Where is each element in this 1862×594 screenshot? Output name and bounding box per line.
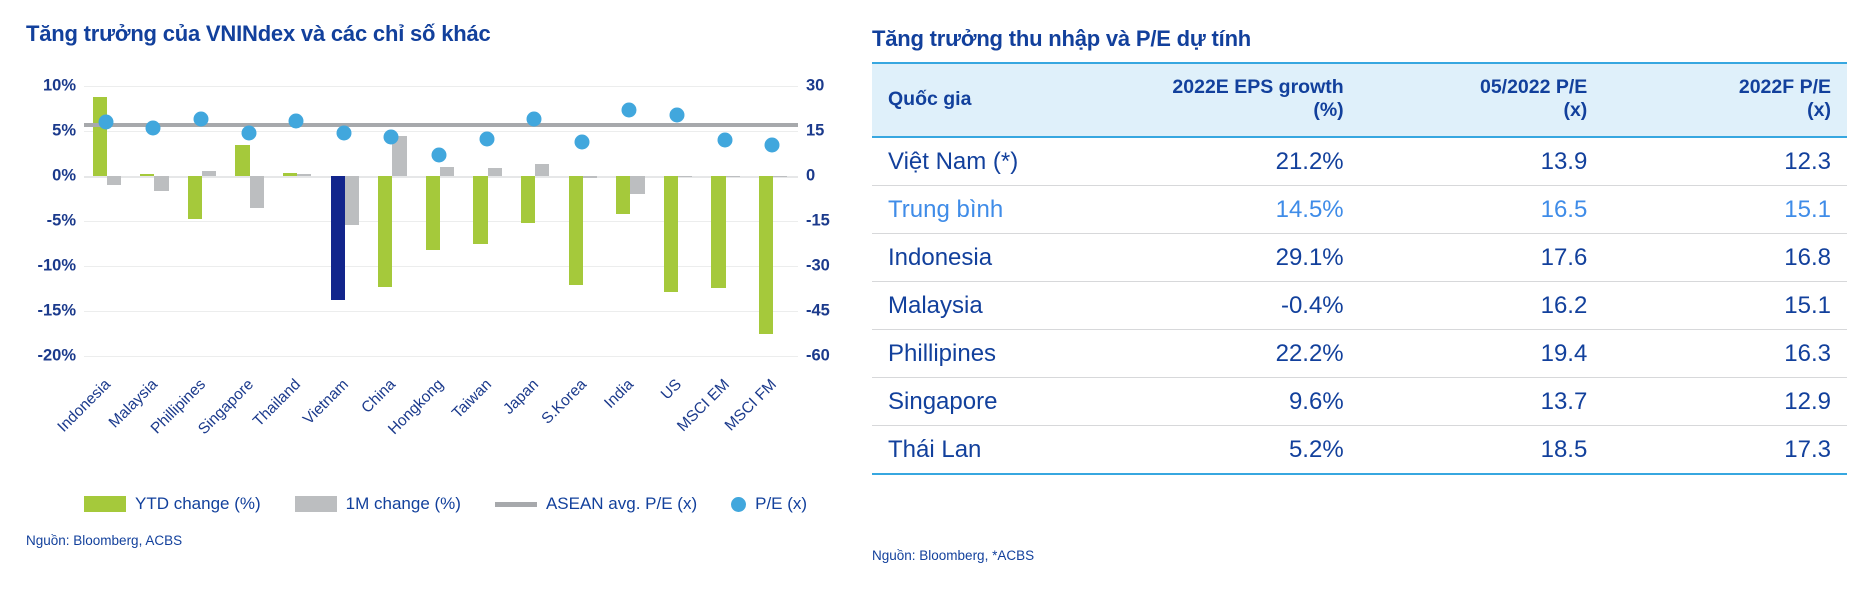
gridline	[84, 266, 798, 267]
bar-ytd-change	[759, 176, 773, 334]
bar-1m-change	[154, 176, 168, 191]
y-axis-right-tick: -60	[806, 347, 850, 366]
col-header-eps-growth-line1: 2022E EPS growth	[1172, 76, 1343, 98]
cell-pe-2022f: 15.1	[1603, 282, 1847, 330]
pe-data-point	[432, 148, 447, 163]
cell-pe-2022f: 12.3	[1603, 137, 1847, 186]
bar-1m-change	[773, 176, 787, 177]
gridline	[84, 356, 798, 357]
cell-pe-2022f: 16.8	[1603, 234, 1847, 282]
asean-average-pe-line	[84, 123, 798, 127]
cell-country: Indonesia	[872, 234, 1116, 282]
pe-data-point	[146, 121, 161, 136]
pe-data-point	[194, 112, 209, 127]
x-axis-label: S.Korea	[538, 376, 590, 428]
growth-chart-panel: Tăng trưởng của VNINdex và các chỉ số kh…	[0, 0, 850, 594]
col-header-eps-growth: 2022E EPS growth (%)	[1116, 63, 1360, 137]
pe-data-point	[527, 112, 542, 127]
col-header-pe-2022f-line1: 2022F P/E	[1739, 76, 1831, 98]
bar-1m-change	[345, 176, 359, 225]
col-header-pe-may-2022: 05/2022 P/E (x)	[1360, 63, 1604, 137]
cell-pe-2022f: 17.3	[1603, 426, 1847, 475]
pe-data-point	[336, 125, 351, 140]
y-axis-left-tick: 5%	[14, 122, 76, 141]
cell-country: Malaysia	[872, 282, 1116, 330]
x-axis-label: Thailand	[250, 376, 305, 431]
cell-country: Singapore	[872, 378, 1116, 426]
cell-eps-growth: 22.2%	[1116, 330, 1360, 378]
col-header-pe-2022f-line2: (x)	[1807, 99, 1831, 121]
bar-1m-change	[535, 164, 549, 176]
cell-country: Trung bình	[872, 186, 1116, 234]
pe-table-panel: Tăng trưởng thu nhập và P/E dự tính Quốc…	[862, 0, 1862, 594]
gridline	[84, 221, 798, 222]
bar-ytd-change	[140, 174, 154, 176]
chart-legend: YTD change (%)1M change (%)ASEAN avg. P/…	[84, 494, 841, 514]
bar-ytd-change	[235, 145, 249, 176]
cell-country: Phillipines	[872, 330, 1116, 378]
col-header-pe-may-2022-line2: (x)	[1563, 99, 1587, 121]
bar-1m-change	[488, 168, 502, 176]
cell-eps-growth: -0.4%	[1116, 282, 1360, 330]
bar-ytd-change	[473, 176, 487, 244]
bar-1m-change	[440, 167, 454, 176]
bar-1m-change	[107, 176, 121, 185]
right-table-title: Tăng trưởng thu nhập và P/E dự tính	[872, 26, 1251, 52]
pe-data-point	[384, 130, 399, 145]
x-axis-label: China	[359, 376, 400, 417]
table-row[interactable]: Việt Nam (*)21.2%13.912.3	[872, 137, 1847, 186]
x-axis-label: Vietnam	[300, 376, 353, 429]
legend-item-m1[interactable]: 1M change (%)	[295, 494, 461, 514]
right-source-note: Nguồn: Bloomberg, *ACBS	[872, 548, 1034, 563]
legend-item-asean[interactable]: ASEAN avg. P/E (x)	[495, 494, 697, 514]
legend-label: ASEAN avg. P/E (x)	[546, 494, 697, 514]
table-row[interactable]: Indonesia29.1%17.616.8	[872, 234, 1847, 282]
x-axis-label: Indonesia	[54, 376, 114, 436]
gridline	[84, 131, 798, 132]
bar-1m-change	[202, 171, 216, 176]
y-axis-right-tick: -15	[806, 212, 850, 231]
bar-ytd-change	[711, 176, 725, 288]
cell-eps-growth: 5.2%	[1116, 426, 1360, 475]
pe-data-point	[241, 125, 256, 140]
y-axis-right-tick: 0	[806, 167, 850, 186]
table-row[interactable]: Thái Lan5.2%18.517.3	[872, 426, 1847, 475]
y-axis-left-tick: -5%	[14, 212, 76, 231]
cell-pe-may-2022: 16.5	[1360, 186, 1604, 234]
cell-pe-2022f: 12.9	[1603, 378, 1847, 426]
table-row[interactable]: Trung bình14.5%16.515.1	[872, 186, 1847, 234]
cell-eps-growth: 21.2%	[1116, 137, 1360, 186]
left-source-note: Nguồn: Bloomberg, ACBS	[26, 533, 182, 548]
y-axis-right-tick: -45	[806, 302, 850, 321]
y-axis-left-tick: 0%	[14, 167, 76, 186]
x-axis-label: India	[602, 376, 639, 413]
pe-data-point	[765, 137, 780, 152]
bar-ytd-change	[569, 176, 583, 285]
cell-pe-may-2022: 19.4	[1360, 330, 1604, 378]
legend-label: P/E (x)	[755, 494, 807, 514]
cell-pe-2022f: 15.1	[1603, 186, 1847, 234]
bar-1m-change	[250, 176, 264, 208]
legend-item-ytd[interactable]: YTD change (%)	[84, 494, 261, 514]
pe-data-point	[98, 115, 113, 130]
col-header-pe-may-2022-line1: 05/2022 P/E	[1480, 76, 1587, 98]
legend-dot-swatch	[731, 497, 746, 512]
cell-pe-may-2022: 17.6	[1360, 234, 1604, 282]
cell-country: Việt Nam (*)	[872, 137, 1116, 186]
x-axis-label: US	[658, 376, 686, 404]
pe-data-point	[670, 107, 685, 122]
bar-ytd-change	[331, 176, 345, 300]
legend-box-swatch	[84, 496, 126, 512]
y-axis-right-tick: 30	[806, 77, 850, 96]
chart-plot-area	[84, 86, 798, 356]
y-axis-left-tick: 10%	[14, 77, 76, 96]
legend-label: 1M change (%)	[346, 494, 461, 514]
col-header-pe-2022f: 2022F P/E (x)	[1603, 63, 1847, 137]
x-axis-label: Japan	[500, 376, 543, 419]
cell-eps-growth: 29.1%	[1116, 234, 1360, 282]
legend-item-pe[interactable]: P/E (x)	[731, 494, 807, 514]
bar-ytd-change	[188, 176, 202, 219]
left-chart-title: Tăng trưởng của VNINdex và các chỉ số kh…	[26, 21, 491, 47]
y-axis-left-tick: -20%	[14, 347, 76, 366]
gridline	[84, 311, 798, 312]
pe-data-point	[479, 131, 494, 146]
bar-ytd-change	[616, 176, 630, 214]
cell-pe-may-2022: 18.5	[1360, 426, 1604, 475]
table-row[interactable]: Malaysia-0.4%16.215.1	[872, 282, 1847, 330]
table-header: Quốc gia 2022E EPS growth (%) 05/2022 P/…	[872, 63, 1847, 137]
x-axis-label: Taiwan	[448, 376, 495, 423]
table-row[interactable]: Phillipines22.2%19.416.3	[872, 330, 1847, 378]
pe-data-point	[622, 103, 637, 118]
bar-1m-change	[726, 176, 740, 177]
table-row[interactable]: Singapore9.6%13.712.9	[872, 378, 1847, 426]
bar-1m-change	[678, 176, 692, 177]
bar-1m-change	[630, 176, 644, 194]
bar-ytd-change	[378, 176, 392, 287]
gridline	[84, 86, 798, 87]
bar-ytd-change	[283, 173, 297, 176]
table-body: Việt Nam (*)21.2%13.912.3Trung bình14.5%…	[872, 137, 1847, 474]
cell-eps-growth: 9.6%	[1116, 378, 1360, 426]
bar-1m-change	[583, 176, 597, 178]
table-header-row: Quốc gia 2022E EPS growth (%) 05/2022 P/…	[872, 63, 1847, 137]
pe-growth-table: Quốc gia 2022E EPS growth (%) 05/2022 P/…	[872, 62, 1847, 475]
col-header-eps-growth-line2: (%)	[1313, 99, 1343, 121]
legend-line-swatch	[495, 502, 537, 507]
y-axis-right-tick: 15	[806, 122, 850, 141]
legend-label: YTD change (%)	[135, 494, 261, 514]
cell-pe-may-2022: 16.2	[1360, 282, 1604, 330]
y-axis-left-tick: -15%	[14, 302, 76, 321]
pe-data-point	[717, 133, 732, 148]
y-axis-right-tick: -30	[806, 257, 850, 276]
cell-country: Thái Lan	[872, 426, 1116, 475]
bar-ytd-change	[664, 176, 678, 292]
bar-ytd-change	[426, 176, 440, 250]
col-header-country: Quốc gia	[872, 63, 1116, 137]
cell-pe-may-2022: 13.7	[1360, 378, 1604, 426]
pe-data-point	[574, 134, 589, 149]
index-growth-chart: 10%5%0%-5%-10%-15%-20% 30150-15-30-45-60…	[0, 70, 850, 490]
bar-ytd-change	[521, 176, 535, 223]
y-axis-left-tick: -10%	[14, 257, 76, 276]
bar-ytd-change	[93, 97, 107, 176]
cell-eps-growth: 14.5%	[1116, 186, 1360, 234]
bar-1m-change	[297, 174, 311, 176]
x-axis-labels: IndonesiaMalaysiaPhillipinesSingaporeTha…	[84, 370, 798, 480]
cell-pe-may-2022: 13.9	[1360, 137, 1604, 186]
cell-pe-2022f: 16.3	[1603, 330, 1847, 378]
legend-box-swatch	[295, 496, 337, 512]
pe-data-point	[289, 113, 304, 128]
